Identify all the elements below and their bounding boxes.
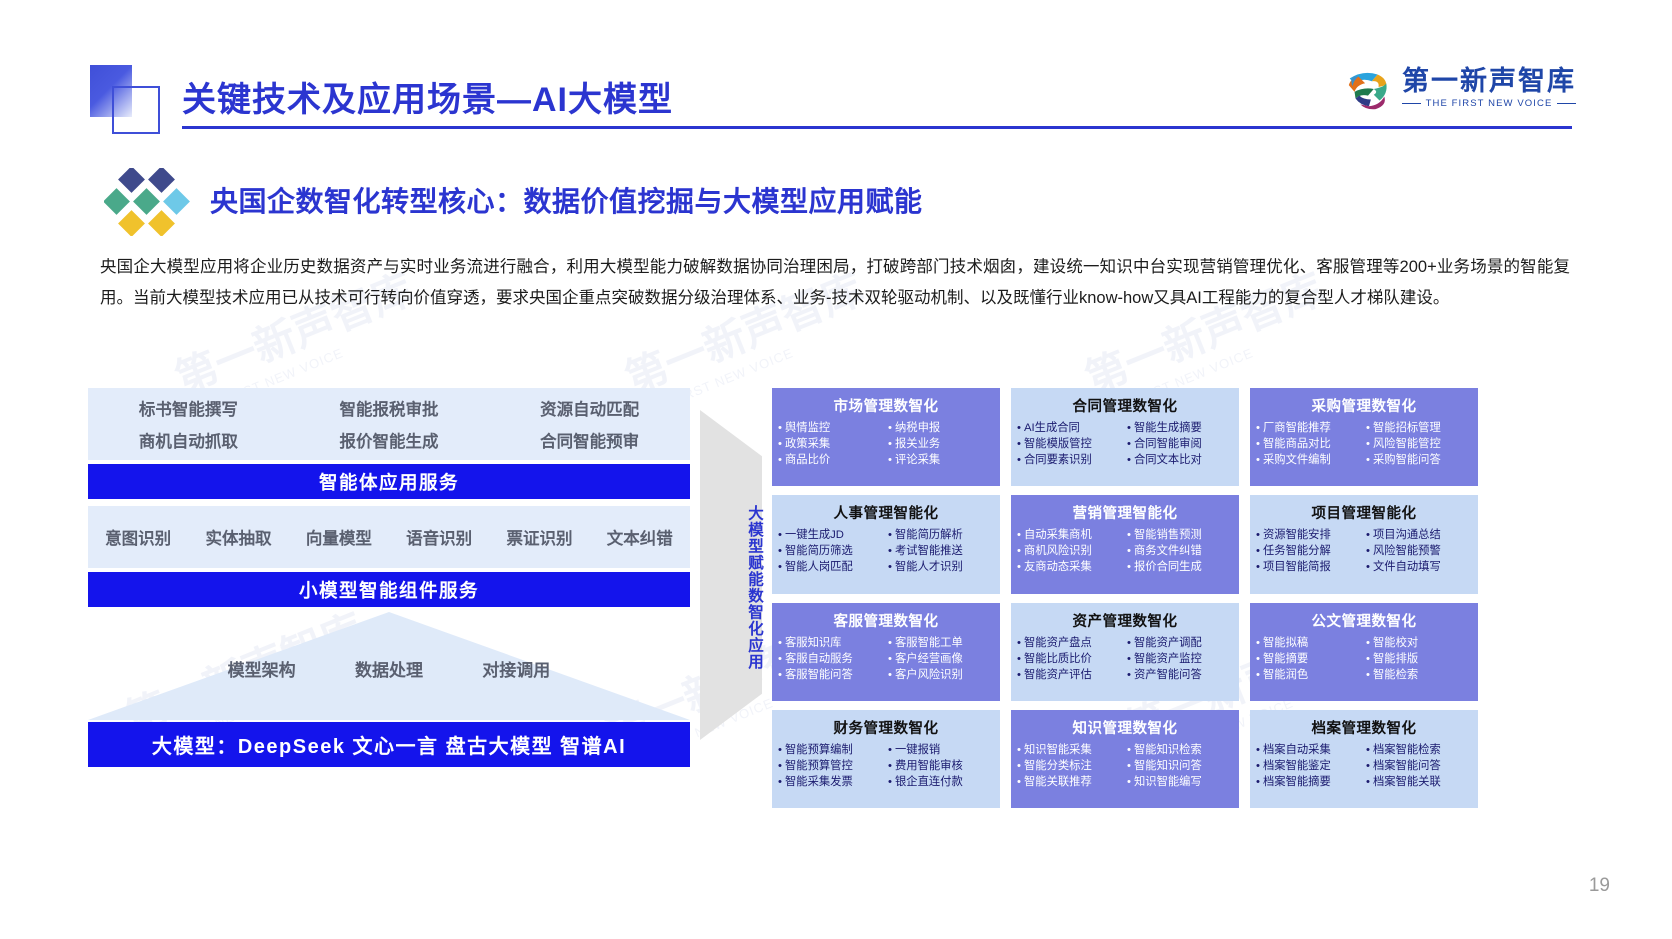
card-item: 智能生成摘要 <box>1127 421 1233 436</box>
scenario-card[interactable]: 公文管理数智化 智能拟稿 智能校对 智能摘要 智能排版 智能润色 智能检索 <box>1250 603 1478 701</box>
pyramid-item: 意图识别 <box>88 525 188 549</box>
pyramid-item: 票证识别 <box>489 525 589 549</box>
globe-swoosh-icon <box>1344 64 1392 112</box>
card-item: 客服知识库 <box>778 636 884 651</box>
card-item: 智能资产盘点 <box>1017 636 1123 651</box>
card-item: 智能关联推荐 <box>1017 775 1123 790</box>
card-item: 考试智能推送 <box>888 544 994 559</box>
pyramid-item: 语音识别 <box>389 525 489 549</box>
card-item: 档案智能关联 <box>1366 775 1472 790</box>
card-item: 档案智能鉴定 <box>1256 759 1362 774</box>
card-title: 人事管理智能化 <box>778 502 994 523</box>
scenario-card-grid: 市场管理数智化 舆情监控 纳税申报 政策采集 报关业务 商品比价 评论采集 合同… <box>772 388 1478 808</box>
card-items: 舆情监控 纳税申报 政策采集 报关业务 商品比价 评论采集 <box>778 421 994 468</box>
card-item: 知识智能采集 <box>1017 743 1123 758</box>
card-title: 财务管理数智化 <box>778 717 994 738</box>
card-item: 评论采集 <box>888 453 994 468</box>
card-title: 资产管理数智化 <box>1017 610 1233 631</box>
card-item: 政策采集 <box>778 437 884 452</box>
card-items: 一键生成JD 智能简历解析 智能简历筛选 考试智能推送 智能人岗匹配 智能人才识… <box>778 528 994 575</box>
card-item: 报价合同生成 <box>1127 560 1233 575</box>
scenario-card[interactable]: 档案管理数智化 档案自动采集 档案智能检索 档案智能鉴定 档案智能问答 档案智能… <box>1250 710 1478 808</box>
pyramid-item: 商机自动抓取 <box>89 428 288 452</box>
pyramid-item: 智能报税审批 <box>290 396 489 420</box>
pyramid-item: 对接调用 <box>482 656 550 681</box>
card-items: 资源智能安排 项目沟通总结 任务智能分解 风险智能预警 项目智能简报 文件自动填… <box>1256 528 1472 575</box>
card-item: 智能知识问答 <box>1127 759 1233 774</box>
card-title: 营销管理智能化 <box>1017 502 1233 523</box>
card-item: 商务文件纠错 <box>1127 544 1233 559</box>
card-item: 合同要素识别 <box>1017 453 1123 468</box>
card-item: 智能检索 <box>1366 668 1472 683</box>
pyramid-tier-1: 标书智能撰写 智能报税审批 资源自动匹配 商机自动抓取 报价智能生成 合同智能预… <box>88 388 690 460</box>
pyramid-item: 报价智能生成 <box>290 428 489 452</box>
card-title: 市场管理数智化 <box>778 395 994 416</box>
pyramid-item: 实体抽取 <box>188 525 288 549</box>
pyramid-tier-2: 意图识别 实体抽取 向量模型 语音识别 票证识别 文本纠错 <box>88 506 690 568</box>
scenario-card[interactable]: 知识管理数智化 知识智能采集 智能知识检索 智能分类标注 智能知识问答 智能关联… <box>1011 710 1239 808</box>
card-item: 项目沟通总结 <box>1366 528 1472 543</box>
card-item: 采购文件编制 <box>1256 453 1362 468</box>
card-item: 商品比价 <box>778 453 884 468</box>
card-item: 智能拟稿 <box>1256 636 1362 651</box>
card-title: 项目管理智能化 <box>1256 502 1472 523</box>
card-item: 客户经营画像 <box>888 652 994 667</box>
logo-text-en: THE FIRST NEW VOICE <box>1426 98 1553 109</box>
card-item: 舆情监控 <box>778 421 884 436</box>
card-item: 智能预算管控 <box>778 759 884 774</box>
logo-rule-right <box>1557 103 1576 104</box>
card-item: 智能比质比价 <box>1017 652 1123 667</box>
card-item: 智能分类标注 <box>1017 759 1123 774</box>
scenario-card[interactable]: 客服管理数智化 客服知识库 客服智能工单 客服自动服务 客户经营画像 客服智能问… <box>772 603 1000 701</box>
card-item: 档案智能检索 <box>1366 743 1472 758</box>
diamond-cluster-icon <box>104 168 196 236</box>
card-item: 采购智能问答 <box>1366 453 1472 468</box>
card-item: 智能简历筛选 <box>778 544 884 559</box>
page-title: 关键技术及应用场景—AI大模型 <box>182 72 673 121</box>
card-item: 商机风险识别 <box>1017 544 1123 559</box>
pyramid-tier-1-row-2: 商机自动抓取 报价智能生成 合同智能预审 <box>88 424 690 456</box>
card-item: 智能招标管理 <box>1366 421 1472 436</box>
card-items: 客服知识库 客服智能工单 客服自动服务 客户经营画像 客服智能问答 客户风险识别 <box>778 636 994 683</box>
logo-text-cn: 第一新声智库 <box>1402 67 1576 95</box>
card-items: AI生成合同 智能生成摘要 智能模版管控 合同智能审阅 合同要素识别 合同文本比… <box>1017 421 1233 468</box>
card-item: 文件自动填写 <box>1366 560 1472 575</box>
scenario-card[interactable]: 财务管理数智化 智能预算编制 一键报销 智能预算管控 费用智能审核 智能采集发票… <box>772 710 1000 808</box>
card-items: 智能拟稿 智能校对 智能摘要 智能排版 智能润色 智能检索 <box>1256 636 1472 683</box>
card-title: 采购管理数智化 <box>1256 395 1472 416</box>
card-item: 自动采集商机 <box>1017 528 1123 543</box>
card-item: 档案自动采集 <box>1256 743 1362 758</box>
card-item: 智能资产调配 <box>1127 636 1233 651</box>
card-title: 客服管理数智化 <box>778 610 994 631</box>
card-item: 客服智能问答 <box>778 668 884 683</box>
card-items: 自动采集商机 智能销售预测 商机风险识别 商务文件纠错 友商动态采集 报价合同生… <box>1017 528 1233 575</box>
card-items: 智能资产盘点 智能资产调配 智能比质比价 智能资产监控 智能资产评估 资产智能问… <box>1017 636 1233 683</box>
card-item: 客户风险识别 <box>888 668 994 683</box>
logo-rule-left <box>1402 103 1421 104</box>
header-divider <box>182 126 1572 129</box>
scenario-card[interactable]: 人事管理智能化 一键生成JD 智能简历解析 智能简历筛选 考试智能推送 智能人岗… <box>772 495 1000 593</box>
card-item: 纳税申报 <box>888 421 994 436</box>
card-item: 档案智能摘要 <box>1256 775 1362 790</box>
card-item: 智能资产评估 <box>1017 668 1123 683</box>
card-item: 智能排版 <box>1366 652 1472 667</box>
card-title: 公文管理数智化 <box>1256 610 1472 631</box>
pyramid-item: 资源自动匹配 <box>490 396 689 420</box>
flow-arrow: 大模型赋能数智化应用 <box>700 410 762 740</box>
pyramid-tier-3: 模型架构 数据处理 对接调用 <box>88 612 690 720</box>
scenario-card[interactable]: 资产管理数智化 智能资产盘点 智能资产调配 智能比质比价 智能资产监控 智能资产… <box>1011 603 1239 701</box>
pyramid-item: 标书智能撰写 <box>89 396 288 420</box>
scenario-card[interactable]: 项目管理智能化 资源智能安排 项目沟通总结 任务智能分解 风险智能预警 项目智能… <box>1250 495 1478 593</box>
card-item: 档案智能问答 <box>1366 759 1472 774</box>
card-title: 合同管理数智化 <box>1017 395 1233 416</box>
card-items: 知识智能采集 智能知识检索 智能分类标注 智能知识问答 智能关联推荐 知识智能编… <box>1017 743 1233 790</box>
card-item: 智能人才识别 <box>888 560 994 575</box>
pyramid-item: 数据处理 <box>355 656 423 681</box>
header-decor-square-outline <box>112 86 160 134</box>
brand-logo: 第一新声智库 THE FIRST NEW VOICE <box>1344 64 1576 112</box>
card-item: 智能销售预测 <box>1127 528 1233 543</box>
logo-tagline-row: THE FIRST NEW VOICE <box>1402 98 1576 109</box>
card-item: 合同文本比对 <box>1127 453 1233 468</box>
card-item: 智能资产监控 <box>1127 652 1233 667</box>
card-item: 智能商品对比 <box>1256 437 1362 452</box>
card-item: 项目智能简报 <box>1256 560 1362 575</box>
scenario-card[interactable]: 市场管理数智化 舆情监控 纳税申报 政策采集 报关业务 商品比价 评论采集 <box>772 388 1000 486</box>
pyramid-item: 模型架构 <box>228 656 296 681</box>
pyramid-diagram: 标书智能撰写 智能报税审批 资源自动匹配 商机自动抓取 报价智能生成 合同智能预… <box>88 388 690 803</box>
pyramid-bar-large-models: 大模型：DeepSeek 文心一言 盘古大模型 智谱AI <box>88 722 690 767</box>
card-item: 客服智能工单 <box>888 636 994 651</box>
pyramid-bar-small-model-service: 小模型智能组件服务 <box>88 572 690 607</box>
card-items: 智能预算编制 一键报销 智能预算管控 费用智能审核 智能采集发票 银企直连付款 <box>778 743 994 790</box>
card-item: 智能预算编制 <box>778 743 884 758</box>
card-item: 风险智能预警 <box>1366 544 1472 559</box>
card-item: 智能知识检索 <box>1127 743 1233 758</box>
pyramid-item: 文本纠错 <box>590 525 690 549</box>
scenario-card[interactable]: 合同管理数智化 AI生成合同 智能生成摘要 智能模版管控 合同智能审阅 合同要素… <box>1011 388 1239 486</box>
card-item: 客服自动服务 <box>778 652 884 667</box>
card-item: AI生成合同 <box>1017 421 1123 436</box>
card-item: 智能人岗匹配 <box>778 560 884 575</box>
card-item: 一键报销 <box>888 743 994 758</box>
card-item: 报关业务 <box>888 437 994 452</box>
card-item: 智能摘要 <box>1256 652 1362 667</box>
intro-paragraph: 央国企大模型应用将企业历史数据资产与实时业务流进行融合，利用大模型能力破解数据协… <box>100 252 1570 314</box>
card-title: 知识管理数智化 <box>1017 717 1233 738</box>
pyramid-tier-3-labels: 模型架构 数据处理 对接调用 <box>88 656 690 681</box>
card-items: 厂商智能推荐 智能招标管理 智能商品对比 风险智能管控 采购文件编制 采购智能问… <box>1256 421 1472 468</box>
card-item: 智能润色 <box>1256 668 1362 683</box>
flow-arrow-label: 大模型赋能数智化应用 <box>700 444 762 730</box>
card-item: 友商动态采集 <box>1017 560 1123 575</box>
card-item: 智能模版管控 <box>1017 437 1123 452</box>
card-item: 厂商智能推荐 <box>1256 421 1362 436</box>
card-item: 资源智能安排 <box>1256 528 1362 543</box>
card-item: 任务智能分解 <box>1256 544 1362 559</box>
pyramid-item: 向量模型 <box>289 525 389 549</box>
pyramid-tier-1-row-1: 标书智能撰写 智能报税审批 资源自动匹配 <box>88 392 690 424</box>
pyramid-bar-agent-service: 智能体应用服务 <box>88 464 690 499</box>
card-item: 一键生成JD <box>778 528 884 543</box>
card-item: 合同智能审阅 <box>1127 437 1233 452</box>
card-items: 档案自动采集 档案智能检索 档案智能鉴定 档案智能问答 档案智能摘要 档案智能关… <box>1256 743 1472 790</box>
card-item: 银企直连付款 <box>888 775 994 790</box>
page-header: 关键技术及应用场景—AI大模型 第一新声智库 THE FIRST NEW VOI… <box>0 0 1672 140</box>
card-item: 资产智能问答 <box>1127 668 1233 683</box>
pyramid-item: 合同智能预审 <box>490 428 689 452</box>
page-number: 19 <box>1589 875 1610 897</box>
card-title: 档案管理数智化 <box>1256 717 1472 738</box>
card-item: 风险智能管控 <box>1366 437 1472 452</box>
scenario-card[interactable]: 营销管理智能化 自动采集商机 智能销售预测 商机风险识别 商务文件纠错 友商动态… <box>1011 495 1239 593</box>
card-item: 费用智能审核 <box>888 759 994 774</box>
section-subtitle: 央国企数智化转型核心：数据价值挖掘与大模型应用赋能 <box>210 180 923 220</box>
card-item: 智能校对 <box>1366 636 1472 651</box>
scenario-card[interactable]: 采购管理数智化 厂商智能推荐 智能招标管理 智能商品对比 风险智能管控 采购文件… <box>1250 388 1478 486</box>
card-item: 智能简历解析 <box>888 528 994 543</box>
card-item: 知识智能编写 <box>1127 775 1233 790</box>
card-item: 智能采集发票 <box>778 775 884 790</box>
